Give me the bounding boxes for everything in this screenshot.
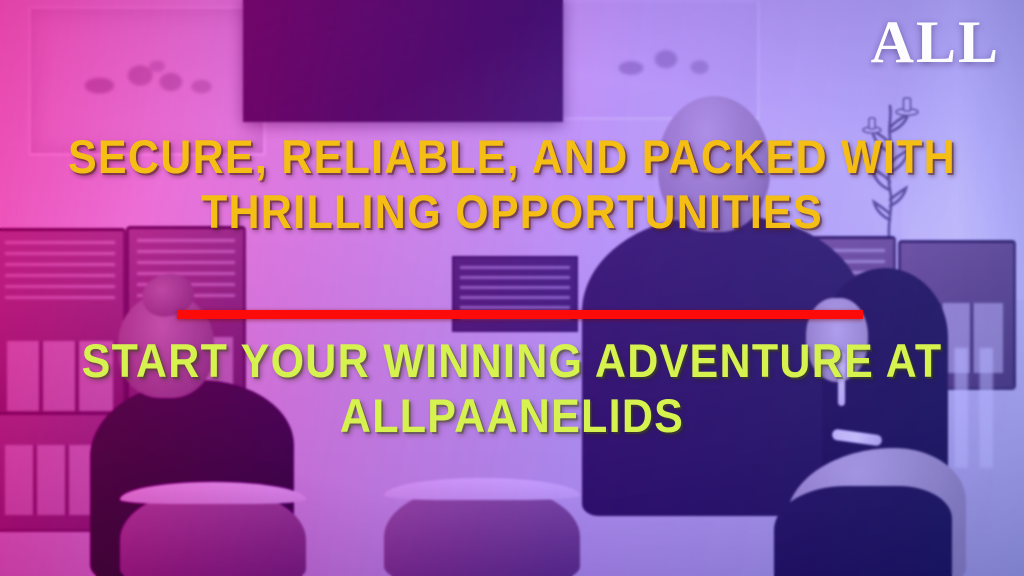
brand-logo[interactable]: ALL [871, 12, 1000, 72]
headline-top-line-2: THRILLING OPPORTUNITIES [44, 185, 981, 240]
headline-bottom-line-1: START YOUR WINNING ADVENTURE AT [44, 334, 981, 389]
headline-bottom: START YOUR WINNING ADVENTURE AT ALLPAANE… [0, 334, 1024, 443]
divider-rule [177, 310, 863, 319]
headline-top: SECURE, RELIABLE, AND PACKED WITH THRILL… [0, 130, 1024, 239]
text-overlay: ALL SECURE, RELIABLE, AND PACKED WITH TH… [0, 0, 1024, 576]
promo-banner: ALL SECURE, RELIABLE, AND PACKED WITH TH… [0, 0, 1024, 576]
headline-top-line-1: SECURE, RELIABLE, AND PACKED WITH [44, 130, 981, 185]
headline-bottom-line-2: ALLPAANELIDS [44, 389, 981, 444]
